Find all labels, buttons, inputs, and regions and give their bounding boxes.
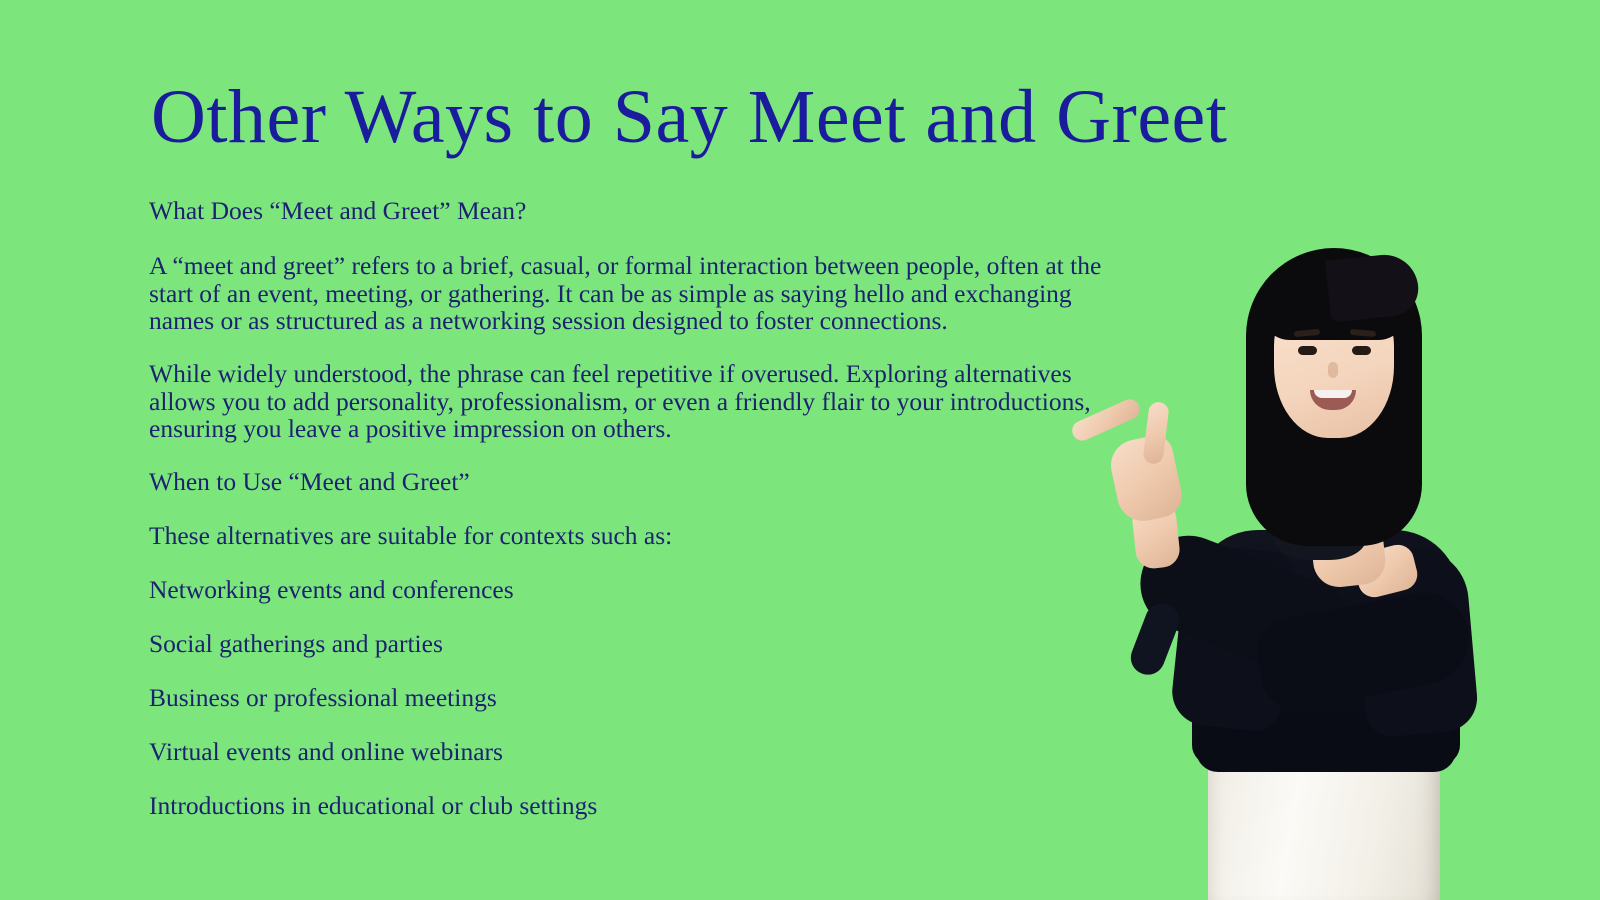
list-item: Virtual events and online webinars: [149, 738, 503, 766]
list-item: Introductions in educational or club set…: [149, 792, 597, 820]
list-item: Networking events and conferences: [149, 576, 514, 604]
presenter-teeth: [1314, 390, 1352, 398]
slide-canvas: Other Ways to Say Meet and Greet What Do…: [0, 0, 1600, 900]
page-title: Other Ways to Say Meet and Greet: [151, 72, 1227, 162]
section-heading-when-to-use: When to Use “Meet and Greet”: [149, 468, 470, 496]
pointing-finger-left: [1069, 396, 1143, 444]
list-item: Business or professional meetings: [149, 684, 497, 712]
paragraph-why-alternatives: While widely understood, the phrase can …: [149, 360, 1124, 443]
presenter-eye-left: [1298, 346, 1317, 355]
list-item: Social gatherings and parties: [149, 630, 443, 658]
text-column: Other Ways to Say Meet and Greet What Do…: [149, 0, 1149, 900]
presenter-figure: [1060, 230, 1600, 900]
paragraph-definition: A “meet and greet” refers to a brief, ca…: [149, 252, 1124, 335]
list-intro-line: These alternatives are suitable for cont…: [149, 522, 672, 550]
presenter-eye-right: [1352, 346, 1371, 355]
presenter-nose: [1328, 362, 1338, 378]
section-heading-what-does-it-mean: What Does “Meet and Greet” Mean?: [149, 197, 526, 225]
